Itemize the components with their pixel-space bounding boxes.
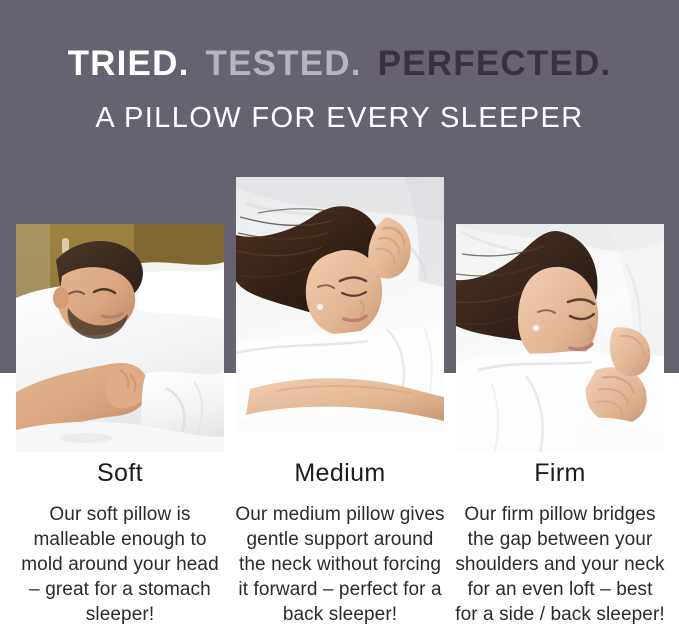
column-soft: Soft Our soft pillow is malleable enough…: [8, 458, 232, 627]
column-body-soft: Our soft pillow is malleable enough to m…: [8, 502, 232, 627]
column-firm: Firm Our firm pillow bridges the gap bet…: [448, 458, 672, 627]
column-body-medium: Our medium pillow gives gentle support a…: [228, 502, 452, 627]
photo-firm-sleeper: [456, 224, 664, 452]
column-title-medium: Medium: [228, 458, 452, 488]
column-body-firm: Our firm pillow bridges the gap between …: [448, 502, 672, 627]
pillow-firmness-infographic: TRIED.TESTED.PERFECTED. A PILLOW FOR EVE…: [0, 0, 679, 643]
headline-word-tested: TESTED.: [206, 44, 362, 84]
photo-medium-sleeper: [236, 177, 444, 432]
column-title-soft: Soft: [8, 458, 232, 488]
photo-soft-sleeper: [16, 224, 224, 452]
column-title-firm: Firm: [448, 458, 672, 488]
subheadline: A PILLOW FOR EVERY SLEEPER: [0, 100, 679, 136]
headline-word-tried: TRIED.: [68, 44, 190, 84]
headline-word-perfected: PERFECTED.: [378, 44, 612, 84]
headline: TRIED.TESTED.PERFECTED.: [0, 44, 679, 84]
column-medium: Medium Our medium pillow gives gentle su…: [228, 458, 452, 627]
